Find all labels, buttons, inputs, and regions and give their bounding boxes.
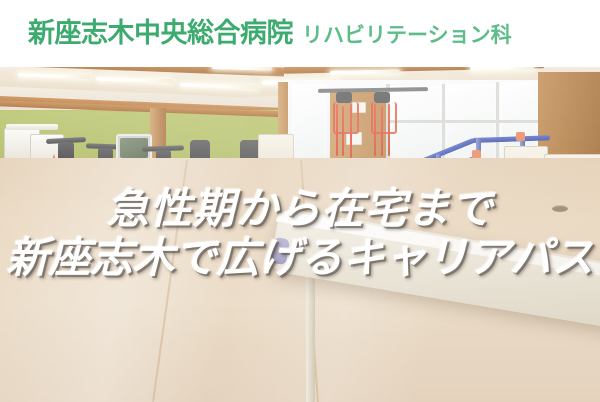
- hero-photo: [0, 62, 600, 402]
- sling-rope-3: [350, 104, 352, 158]
- sling-rope-4: [374, 104, 376, 156]
- stair-joint-3: [516, 132, 525, 141]
- header-title-group: 新座志木中央総合病院 リハビリテーション科: [28, 20, 512, 47]
- hospital-name: 新座志木中央総合病院: [28, 20, 293, 47]
- window-mullion-sill: [386, 120, 538, 123]
- sling-rope-6: [388, 104, 390, 156]
- cart-top-tray: [6, 124, 58, 130]
- sling-rope-1: [336, 104, 338, 156]
- hero-photo-scene: [0, 62, 600, 402]
- department-name: リハビリテーション科: [302, 25, 512, 46]
- floor-drain: [552, 205, 568, 212]
- sling-rope-2: [342, 106, 344, 156]
- site-header: 新座志木中央総合病院 リハビリテーション科: [0, 0, 600, 67]
- recruitment-banner: 新座志木中央総合病院 リハビリテーション科: [0, 0, 600, 402]
- sling-rope-5: [381, 106, 383, 156]
